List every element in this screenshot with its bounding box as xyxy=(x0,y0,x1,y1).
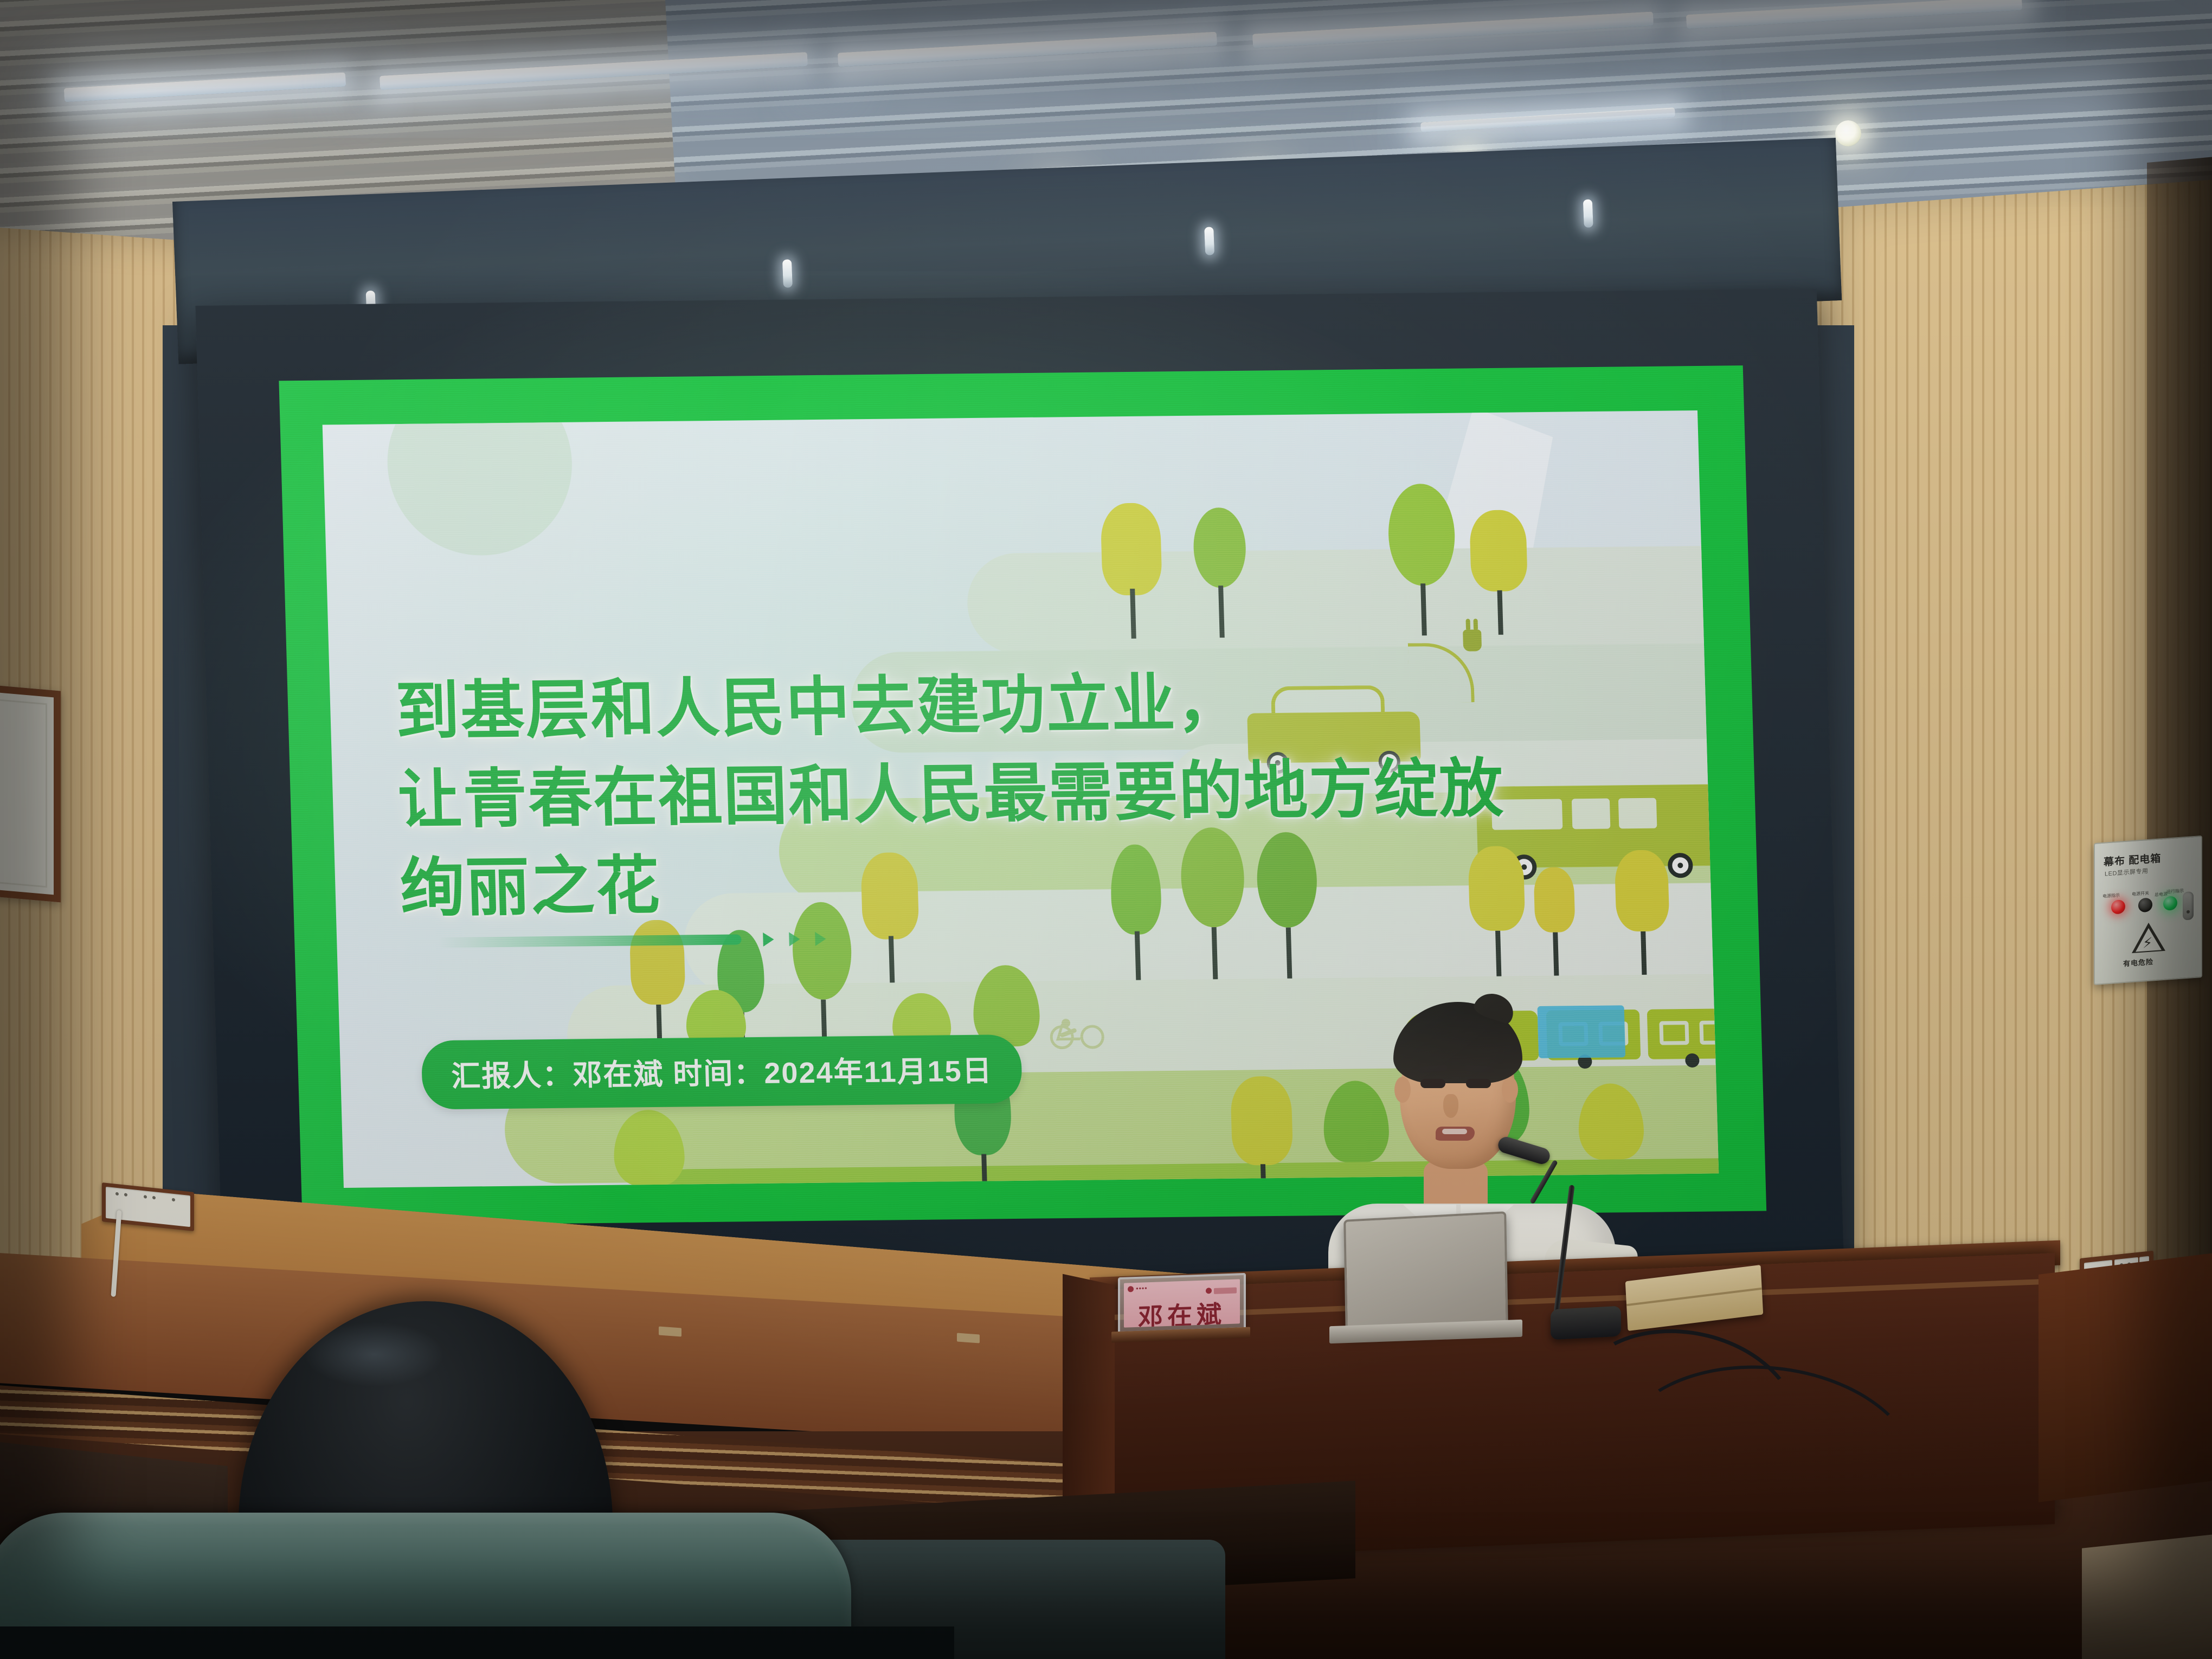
tree-trunk xyxy=(889,936,895,982)
nameplate-name: 邓在斌 xyxy=(1124,1294,1240,1327)
tree-crown xyxy=(1469,510,1528,591)
power-control-panel[interactable]: 幕布 配电箱 LED显示屏专用 电源指示 电源开关 总电源 运行指示 ⚡ 有电危… xyxy=(2094,835,2202,985)
tree-icon xyxy=(1387,484,1457,636)
outlet-pin xyxy=(144,1195,147,1199)
nameplate-holder: ●●●● 邓在斌 xyxy=(1118,1273,1246,1334)
conference-hall-scene: 幕布 配电箱 LED显示屏专用 电源指示 电源开关 总电源 运行指示 ⚡ 有电危… xyxy=(0,0,2212,1659)
presenter-mouth xyxy=(1436,1127,1475,1141)
tree-trunk xyxy=(1261,1164,1266,1188)
power-indicator-red-lamp xyxy=(2111,899,2125,915)
control-label-running-indicator: 运行指示 xyxy=(2166,888,2184,895)
floor-outlet-plate xyxy=(957,1333,980,1343)
train-window xyxy=(1699,1020,1719,1045)
control-label-power-indicator: 电源指示 xyxy=(2102,892,2120,899)
bus-window xyxy=(1572,799,1611,829)
power-switch-knob[interactable] xyxy=(2138,897,2152,912)
presenter-ear xyxy=(1502,1077,1518,1103)
presenter-nose xyxy=(1443,1094,1458,1118)
tree-trunk xyxy=(1495,931,1501,976)
main-power-toggle-switch[interactable] xyxy=(2183,891,2194,920)
wall-picture-frame xyxy=(0,684,61,902)
decorative-circle xyxy=(385,410,575,556)
train-window xyxy=(1659,1021,1689,1045)
tree-icon xyxy=(1193,507,1249,638)
control-label-main-power: 总电源 xyxy=(2155,891,2168,898)
accent-arrow-icon xyxy=(789,932,800,946)
bicycle-wheel xyxy=(1080,1025,1104,1049)
bus-wheel xyxy=(1668,853,1693,878)
podium-side-panel xyxy=(1063,1274,1115,1518)
secondary-logo-icon xyxy=(1206,1288,1212,1294)
foreground-bench-right xyxy=(2082,1531,2212,1659)
soffit-led xyxy=(1204,227,1214,255)
tree-icon xyxy=(1230,1076,1295,1188)
microphone-base[interactable] xyxy=(1551,1306,1621,1340)
control-label-power-switch: 电源开关 xyxy=(2132,890,2149,897)
soffit-led xyxy=(1583,199,1593,228)
wall-picture-frame-inner xyxy=(0,699,47,888)
tree-trunk xyxy=(1218,586,1225,638)
downlight xyxy=(1835,120,1861,146)
tree-trunk xyxy=(1212,927,1218,979)
tree-crown xyxy=(1615,850,1670,931)
tree-crown xyxy=(1230,1076,1294,1166)
toggle-screw xyxy=(2187,910,2190,914)
bus-window xyxy=(1618,798,1657,829)
tree-trunk xyxy=(1286,928,1293,979)
lightning-bolt-icon: ⚡ xyxy=(2143,935,2152,950)
presenter-info-pill: 汇报人：邓在斌 时间：2024年11月15日 xyxy=(421,1034,1023,1110)
laptop-screen[interactable] xyxy=(1343,1211,1508,1335)
tree-crown xyxy=(1533,867,1575,933)
tree-crown xyxy=(1100,503,1162,595)
floor-outlet-plate xyxy=(659,1327,681,1337)
nameplate-card: ●●●● 邓在斌 xyxy=(1124,1279,1240,1327)
presenter-hair xyxy=(1393,1002,1522,1083)
tree-trunk xyxy=(1553,933,1559,976)
outlet-pin xyxy=(124,1193,127,1197)
tree-trunk xyxy=(981,1154,987,1188)
illustration-band xyxy=(966,545,1719,654)
accent-arrow-icon xyxy=(815,932,826,946)
charging-plug-icon xyxy=(1463,629,1482,651)
tree-crown xyxy=(1193,507,1247,588)
auditorium-seat-base xyxy=(0,1626,954,1659)
tree-crown xyxy=(1387,484,1456,586)
outlet-pin xyxy=(115,1192,119,1196)
train-wheel xyxy=(1685,1053,1700,1068)
tree-icon xyxy=(1100,503,1163,639)
outlet-pin xyxy=(172,1198,175,1202)
cyclist-head xyxy=(1062,1019,1070,1027)
tree-trunk xyxy=(1130,589,1136,639)
institution-logo-icon xyxy=(1128,1286,1134,1292)
tree-icon xyxy=(1533,867,1577,976)
warning-label: 有电危险 xyxy=(2123,956,2153,968)
train-carriage xyxy=(1647,1008,1719,1059)
accent-arrow-icon xyxy=(763,933,774,947)
presenter-eye xyxy=(1466,1079,1491,1088)
institution-logo-text: ●●●● xyxy=(1136,1285,1147,1291)
tree-trunk xyxy=(1641,931,1647,975)
running-indicator-green-lamp xyxy=(2163,896,2177,911)
accent-bar xyxy=(438,934,742,948)
hair-highlight xyxy=(304,1322,445,1387)
tree-icon xyxy=(1615,850,1671,975)
bicycle-icon xyxy=(1049,996,1110,1049)
tree-trunk xyxy=(1497,590,1503,635)
presenter-ear xyxy=(1394,1077,1411,1103)
presenter-eye xyxy=(1420,1079,1445,1088)
tree-trunk xyxy=(1420,583,1427,635)
side-desk-right xyxy=(2039,1252,2212,1502)
tree-icon xyxy=(1469,510,1529,635)
slide-title: 到基层和人民中去建功立业， 让青春在祖国和人民最需要的地方绽放绚丽之花 xyxy=(394,657,1508,933)
secondary-logo-text xyxy=(1214,1287,1237,1294)
control-panel-title: 幕布 配电箱 xyxy=(2104,850,2161,869)
tree-trunk xyxy=(1135,931,1141,980)
outlet-pin xyxy=(152,1196,156,1200)
soffit-led xyxy=(782,259,793,288)
